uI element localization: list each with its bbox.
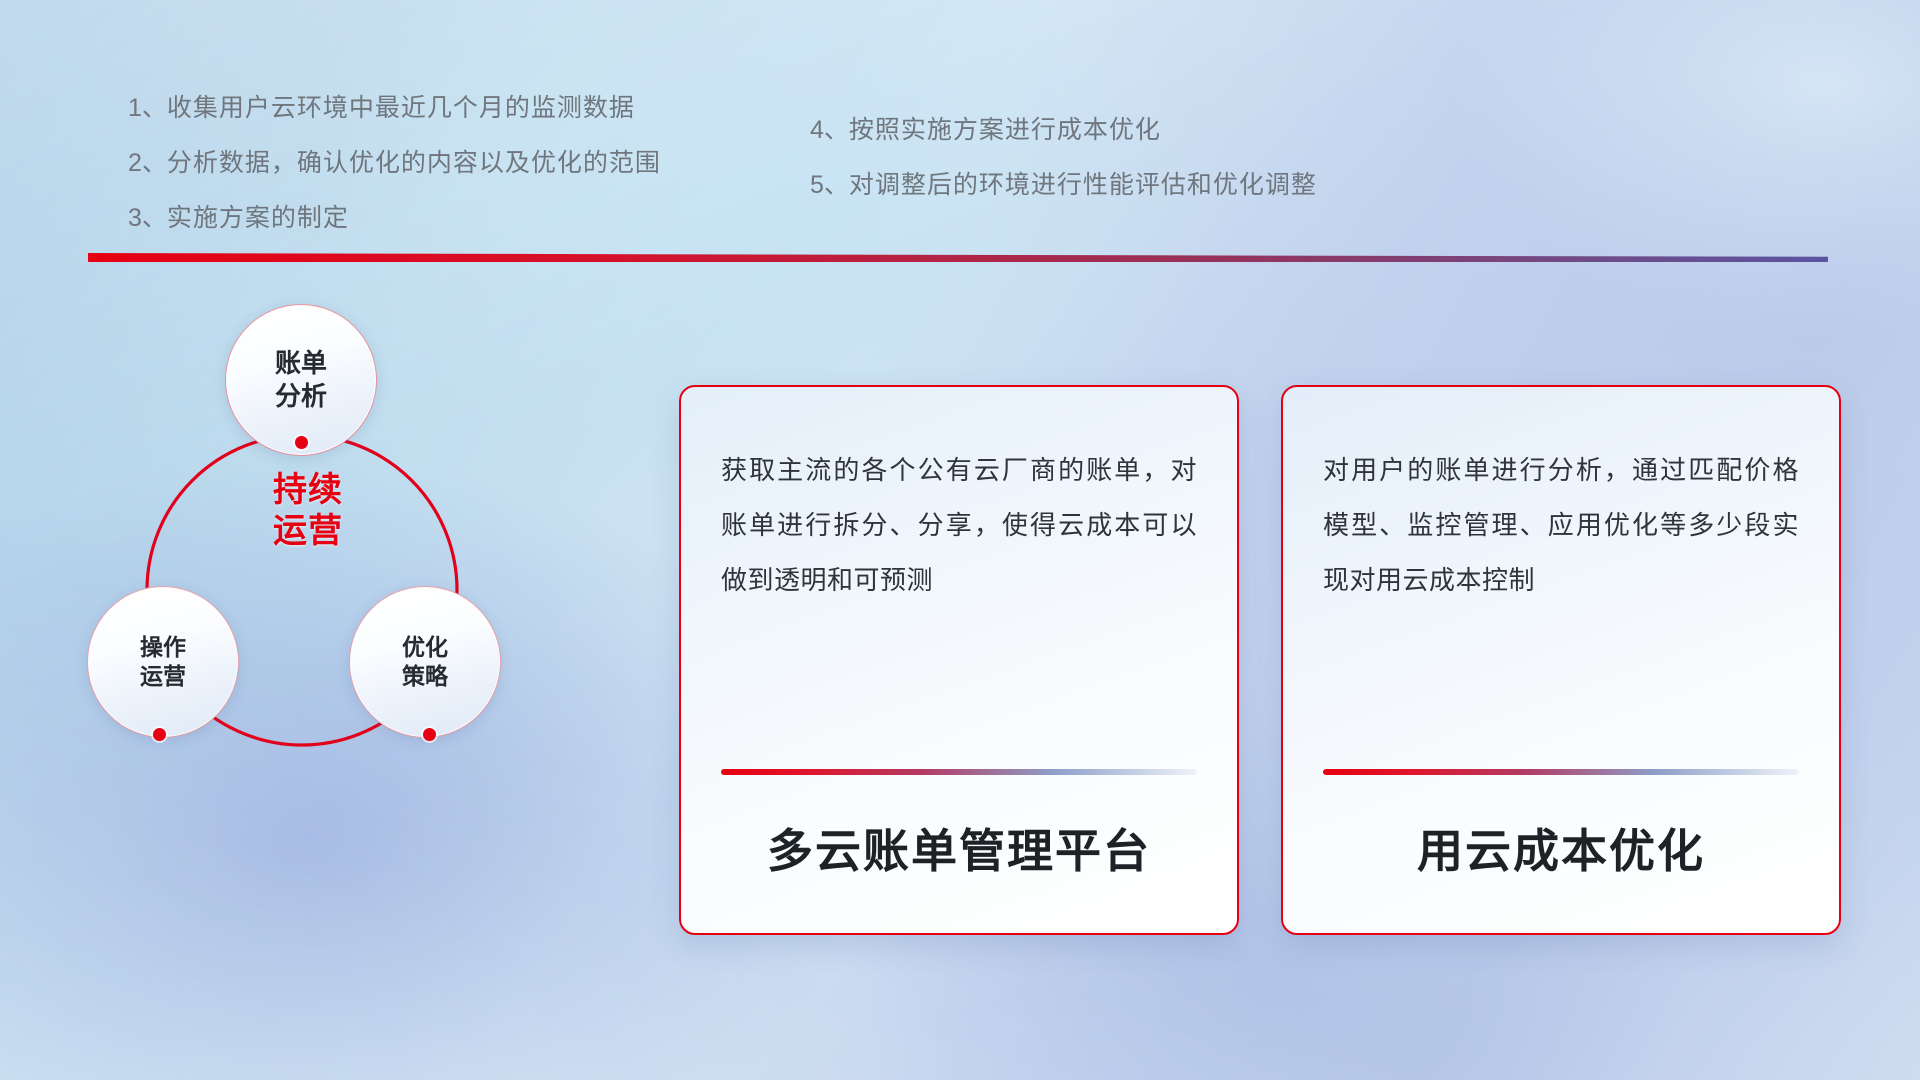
card-title: 用云成本优化 [1323, 815, 1799, 881]
step-number: 3、 [128, 204, 167, 232]
connector-dot-bottom-left [153, 728, 166, 741]
step-item: 5、对调整后的环境进行性能评估和优化调整 [810, 173, 1317, 198]
step-number: 2、 [128, 149, 167, 177]
venn-bubble-operations[interactable]: 操作 运营 [88, 587, 238, 737]
card-accent-rule [1323, 769, 1799, 775]
venn-center-label-line1: 持续 [248, 470, 368, 511]
venn-center-label: 持续 运营 [248, 470, 368, 553]
steps-section: 1、收集用户云环境中最近几个月的监测数据 2、分析数据，确认优化的内容以及优化的… [0, 0, 1920, 250]
card-title: 多云账单管理平台 [721, 815, 1197, 881]
divider-bar [88, 253, 1828, 262]
step-item: 1、收集用户云环境中最近几个月的监测数据 [128, 96, 661, 121]
step-number: 4、 [810, 116, 849, 144]
venn-bubble-label-line1: 操作 [140, 633, 186, 662]
step-text: 对调整后的环境进行性能评估和优化调整 [849, 171, 1317, 199]
venn-bubble-label-line2: 运营 [140, 662, 186, 691]
step-number: 1、 [128, 94, 167, 122]
step-text: 按照实施方案进行成本优化 [849, 116, 1161, 144]
step-number: 5、 [810, 171, 849, 199]
venn-diagram: 账单 分析 操作 运营 优化 策略 持续 运营 [80, 285, 540, 765]
step-item: 2、分析数据，确认优化的内容以及优化的范围 [128, 151, 661, 176]
venn-center-label-line2: 运营 [248, 511, 368, 552]
venn-bubble-label-line2: 分析 [275, 380, 327, 413]
card-body-text: 获取主流的各个公有云厂商的账单，对账单进行拆分、分享，使得云成本可以做到透明和可… [721, 443, 1197, 608]
venn-bubble-billing-analysis[interactable]: 账单 分析 [226, 305, 376, 455]
card-accent-rule [721, 769, 1197, 775]
connector-dot-bottom-right [423, 728, 436, 741]
info-card-multi-cloud-billing-platform[interactable]: 获取主流的各个公有云厂商的账单，对账单进行拆分、分享，使得云成本可以做到透明和可… [679, 385, 1239, 935]
steps-left-column: 1、收集用户云环境中最近几个月的监测数据 2、分析数据，确认优化的内容以及优化的… [128, 96, 661, 261]
step-text: 收集用户云环境中最近几个月的监测数据 [167, 94, 635, 122]
info-card-cloud-cost-optimization[interactable]: 对用户的账单进行分析，通过匹配价格模型、监控管理、应用优化等多少段实现对用云成本… [1281, 385, 1841, 935]
venn-bubble-label-line1: 优化 [402, 633, 448, 662]
step-text: 实施方案的制定 [167, 204, 349, 232]
venn-bubble-label-line1: 账单 [275, 347, 327, 380]
connector-dot-top [295, 436, 308, 449]
steps-right-column: 4、按照实施方案进行成本优化 5、对调整后的环境进行性能评估和优化调整 [810, 118, 1317, 228]
step-item: 3、实施方案的制定 [128, 206, 661, 231]
venn-bubble-label-line2: 策略 [402, 662, 448, 691]
step-text: 分析数据，确认优化的内容以及优化的范围 [167, 149, 661, 177]
section-divider [88, 253, 1828, 262]
step-item: 4、按照实施方案进行成本优化 [810, 118, 1317, 143]
card-body-text: 对用户的账单进行分析，通过匹配价格模型、监控管理、应用优化等多少段实现对用云成本… [1323, 443, 1799, 608]
venn-bubble-optimization-strategy[interactable]: 优化 策略 [350, 587, 500, 737]
